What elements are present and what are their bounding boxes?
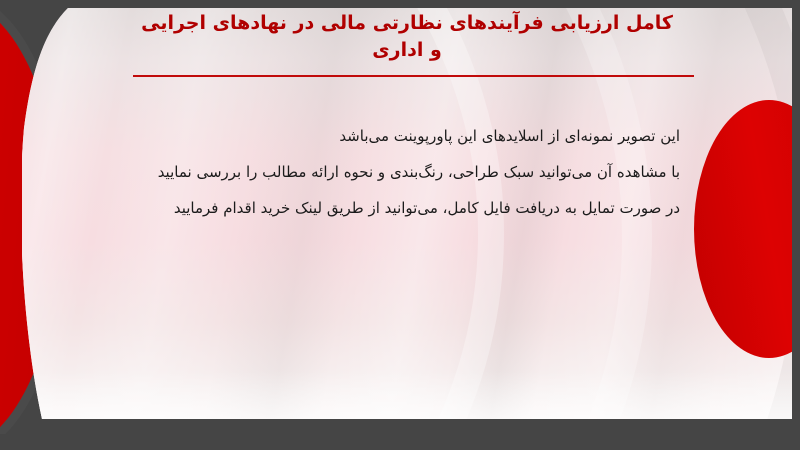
title-divider-rule — [133, 75, 694, 77]
body-line-2: با مشاهده آن می‌توانید سبک طراحی، رنگ‌بن… — [158, 154, 680, 190]
title-line-2: و اداری — [100, 37, 714, 64]
slide-bottom-band — [0, 434, 800, 450]
slide-title: کامل ارزیابی فرآیندهای نظارتی مالی در نه… — [100, 10, 714, 64]
body-line-3: در صورت تمایل به دریافت فایل کامل، می‌تو… — [158, 190, 680, 226]
slide-body-text: این تصویر نمونه‌ای از اسلایدهای این پاور… — [158, 118, 680, 226]
body-line-1: این تصویر نمونه‌ای از اسلایدهای این پاور… — [158, 118, 680, 154]
presentation-slide: کامل ارزیابی فرآیندهای نظارتی مالی در نه… — [0, 0, 800, 450]
title-line-1: کامل ارزیابی فرآیندهای نظارتی مالی در نه… — [100, 10, 714, 37]
